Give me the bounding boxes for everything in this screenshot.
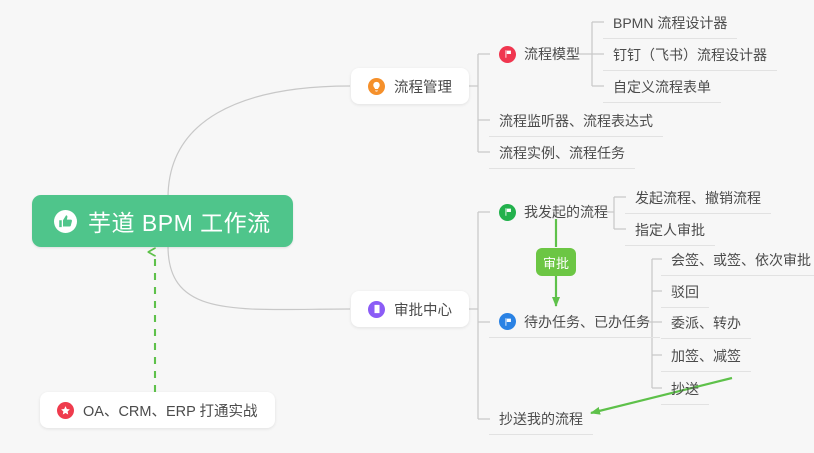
- flag-icon: [499, 204, 516, 221]
- node-oa-crm-erp[interactable]: OA、CRM、ERP 打通实战: [40, 392, 275, 428]
- node-process-model-label: 流程模型: [524, 44, 580, 64]
- approval-chip-label: 审批: [543, 253, 569, 272]
- branch-process-management-label: 流程管理: [394, 76, 452, 97]
- node-cc-to-me-processes-label: 抄送我的流程: [499, 409, 583, 429]
- node-add-remove-sign[interactable]: 加签、减签: [661, 340, 751, 372]
- node-custom-form-label: 自定义流程表单: [613, 77, 711, 97]
- node-listener-expression[interactable]: 流程监听器、流程表达式: [489, 105, 663, 137]
- root-node[interactable]: 芋道 BPM 工作流: [32, 195, 293, 247]
- clipboard-icon: [368, 301, 385, 318]
- node-oa-crm-erp-label: OA、CRM、ERP 打通实战: [83, 400, 258, 421]
- node-instance-task[interactable]: 流程实例、流程任务: [489, 137, 635, 169]
- node-add-remove-sign-label: 加签、减签: [671, 346, 741, 366]
- node-todo-done-tasks-label: 待办任务、已办任务: [524, 312, 650, 332]
- link-root-to-approval-center: [168, 246, 350, 310]
- node-assignee-approval-label: 指定人审批: [635, 220, 705, 240]
- star-icon: [57, 402, 74, 419]
- node-delegate-transfer[interactable]: 委派、转办: [661, 307, 751, 339]
- branch-process-management[interactable]: 流程管理: [351, 68, 469, 104]
- node-reject-label: 驳回: [671, 282, 699, 302]
- lightbulb-icon: [368, 78, 385, 95]
- node-countersign-label: 会签、或签、依次审批: [671, 250, 811, 270]
- node-assignee-approval[interactable]: 指定人审批: [625, 214, 715, 246]
- branch-approval-center[interactable]: 审批中心: [351, 291, 469, 327]
- mindmap-canvas: 芋道 BPM 工作流 流程管理 流程模型 流程监听器、流程表达式 流程实例、流程…: [0, 0, 814, 453]
- node-cc-label: 抄送: [671, 379, 699, 399]
- node-custom-form[interactable]: 自定义流程表单: [603, 71, 721, 103]
- node-delegate-transfer-label: 委派、转办: [671, 313, 741, 333]
- node-countersign[interactable]: 会签、或签、依次审批: [661, 244, 814, 276]
- node-bpmn-designer[interactable]: BPMN 流程设计器: [603, 7, 737, 39]
- node-dingtalk-feishu-designer-label: 钉钉（飞书）流程设计器: [613, 45, 767, 65]
- node-todo-done-tasks[interactable]: 待办任务、已办任务: [489, 306, 660, 338]
- approval-chip[interactable]: 审批: [536, 248, 576, 276]
- node-process-model[interactable]: 流程模型: [489, 38, 590, 70]
- branch-approval-center-label: 审批中心: [394, 299, 452, 320]
- node-my-started-processes-label: 我发起的流程: [524, 202, 608, 222]
- node-cc[interactable]: 抄送: [661, 373, 709, 405]
- node-bpmn-designer-label: BPMN 流程设计器: [613, 13, 727, 33]
- flag-icon: [499, 313, 516, 330]
- node-my-started-processes[interactable]: 我发起的流程: [489, 196, 618, 228]
- node-reject[interactable]: 驳回: [661, 276, 709, 308]
- flag-icon: [499, 46, 516, 63]
- root-label: 芋道 BPM 工作流: [88, 204, 271, 238]
- node-dingtalk-feishu-designer[interactable]: 钉钉（飞书）流程设计器: [603, 39, 777, 71]
- thumbs-up-icon: [54, 210, 77, 233]
- node-instance-task-label: 流程实例、流程任务: [499, 143, 625, 163]
- link-root-to-process-management: [168, 86, 350, 198]
- node-listener-expression-label: 流程监听器、流程表达式: [499, 111, 653, 131]
- node-cc-to-me-processes[interactable]: 抄送我的流程: [489, 403, 593, 435]
- node-start-cancel-process[interactable]: 发起流程、撤销流程: [625, 182, 771, 214]
- node-start-cancel-process-label: 发起流程、撤销流程: [635, 188, 761, 208]
